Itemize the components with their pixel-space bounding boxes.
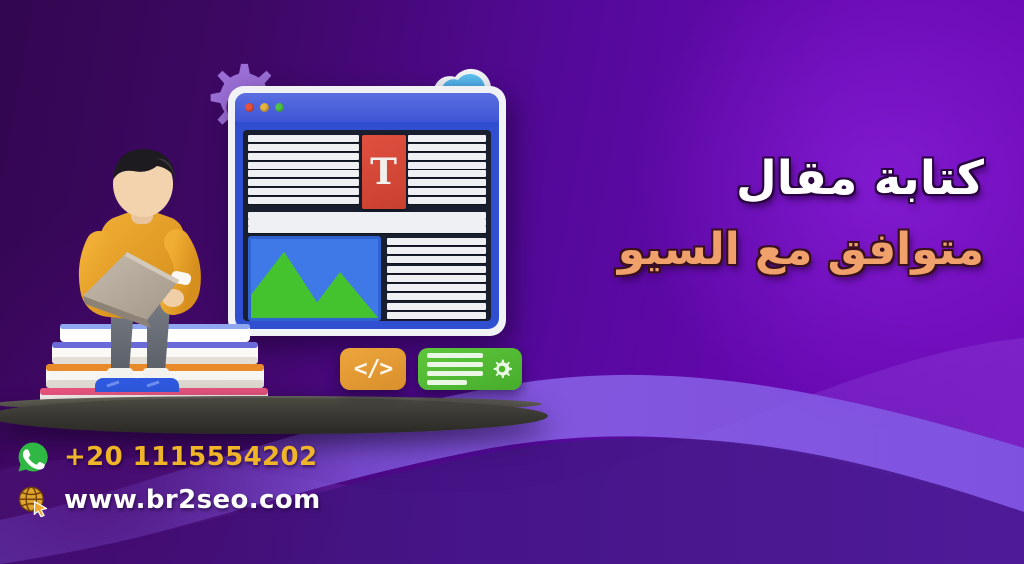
contact-phone-row[interactable]: +20 1115554202: [16, 440, 321, 474]
browser-window-mockup: T: [228, 86, 506, 336]
person-with-laptop: [55, 140, 245, 420]
feature-badges: </>: [340, 348, 522, 390]
seo-badge-lines: [427, 353, 483, 385]
browser-title-bar: [235, 93, 499, 122]
person-head: [113, 149, 175, 224]
article-text-lines-right: [408, 130, 491, 209]
traffic-light-green-icon: [275, 103, 284, 112]
article-text-lines-left: [243, 130, 359, 209]
traffic-light-red-icon: [245, 103, 254, 112]
seo-settings-badge[interactable]: [418, 348, 522, 390]
stage-platform: [0, 398, 548, 434]
phone-number: +20 1115554202: [64, 442, 318, 472]
code-badge[interactable]: </>: [340, 348, 406, 390]
headline-line-2: متوافق مع السيو: [484, 223, 984, 277]
gear-icon: [491, 358, 513, 380]
traffic-light-yellow-icon: [260, 103, 269, 112]
promo-banner: T: [0, 0, 1024, 564]
person-shoes: [95, 378, 179, 392]
article-text-lines-bottom: [387, 236, 486, 321]
text-t-glyph: T: [370, 154, 397, 190]
browser-content: T: [243, 130, 491, 321]
whatsapp-icon[interactable]: [16, 440, 50, 474]
website-url: www.br2seo.com: [64, 485, 321, 515]
hero-illustration: T: [0, 0, 560, 440]
contact-website-row[interactable]: www.br2seo.com: [16, 483, 321, 517]
contact-block: +20 1115554202 www.br2seo.com: [16, 440, 321, 517]
globe-cursor-icon[interactable]: [16, 483, 50, 517]
headline-line-1: كتابة مقال: [484, 150, 984, 207]
headline-block: كتابة مقال متوافق مع السيو: [484, 150, 984, 277]
text-tool-badge: T: [362, 135, 406, 209]
article-text-lines-middle: [248, 209, 486, 236]
code-icon: </>: [354, 356, 393, 382]
